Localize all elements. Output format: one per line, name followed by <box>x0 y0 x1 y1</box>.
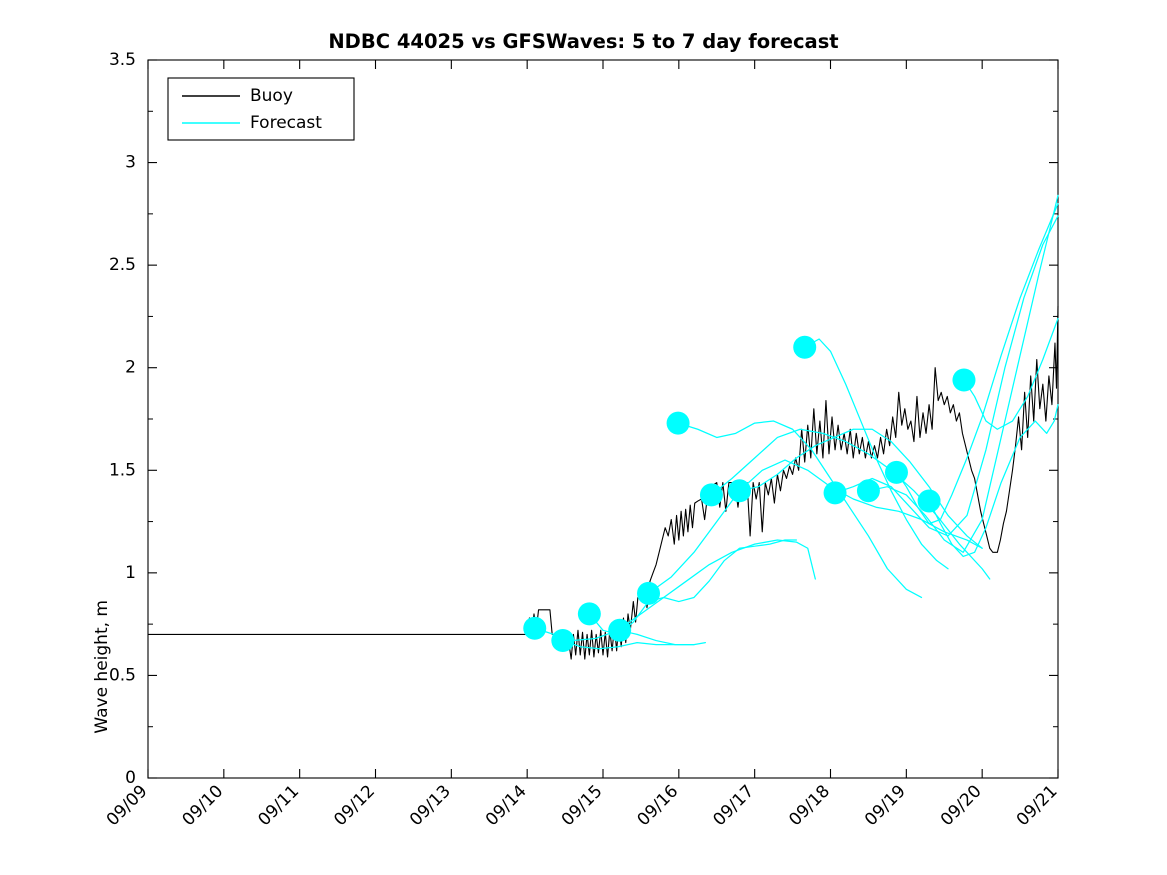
y-tick-label: 2 <box>125 358 136 378</box>
x-tick-label: 09/17 <box>709 781 758 830</box>
forecast-start-marker <box>523 617 546 640</box>
forecast-start-marker <box>578 602 601 625</box>
forecast-start-marker <box>857 479 880 502</box>
x-tick-label: 09/15 <box>558 781 607 830</box>
series-line <box>148 306 1058 659</box>
y-tick-label: 3 <box>125 153 136 173</box>
x-tick-label: 09/10 <box>179 781 228 830</box>
series-layer <box>148 195 1058 659</box>
forecast-start-marker <box>824 481 847 504</box>
series-line <box>620 630 706 644</box>
plot-area: 00.511.522.533.509/0909/1009/1109/1209/1… <box>0 0 1167 875</box>
forecast-start-marker <box>952 369 975 392</box>
forecast-start-marker <box>637 582 660 605</box>
plot-frame <box>148 60 1058 778</box>
chart-canvas: NDBC 44025 vs GFSWaves: 5 to 7 day forec… <box>0 0 1167 875</box>
forecast-start-marker <box>667 412 690 435</box>
y-tick-label: 3.5 <box>109 50 136 70</box>
legend-label: Forecast <box>250 113 322 133</box>
legend-label: Buoy <box>250 86 293 106</box>
forecast-start-markers <box>523 336 975 652</box>
x-tick-label: 09/13 <box>406 781 455 830</box>
x-tick-label: 09/18 <box>785 781 834 830</box>
series-line <box>535 540 816 641</box>
y-tick-label: 1.5 <box>109 460 136 480</box>
x-tick-label: 09/14 <box>482 781 531 830</box>
series-line <box>964 318 1058 429</box>
forecast-start-marker <box>700 483 723 506</box>
axes-layer: 00.511.522.533.509/0909/1009/1109/1209/1… <box>103 50 1062 830</box>
x-tick-label: 09/11 <box>254 781 303 830</box>
x-tick-label: 09/20 <box>937 781 986 830</box>
forecast-start-marker <box>793 336 816 359</box>
y-tick-label: 1 <box>125 563 136 583</box>
y-tick-label: 0.5 <box>109 665 136 685</box>
forecast-start-marker <box>918 490 941 513</box>
forecast-start-marker <box>885 461 908 484</box>
legend: BuoyForecast <box>168 78 354 140</box>
x-tick-label: 09/16 <box>634 781 683 830</box>
forecast-start-marker <box>551 629 574 652</box>
forecast-start-marker <box>728 479 751 502</box>
x-tick-label: 09/09 <box>103 781 152 830</box>
x-tick-label: 09/19 <box>861 781 910 830</box>
forecast-start-marker <box>608 619 631 642</box>
x-tick-label: 09/12 <box>330 781 379 830</box>
series-line <box>649 460 983 593</box>
x-tick-label: 09/21 <box>1013 781 1062 830</box>
y-tick-label: 2.5 <box>109 255 136 275</box>
